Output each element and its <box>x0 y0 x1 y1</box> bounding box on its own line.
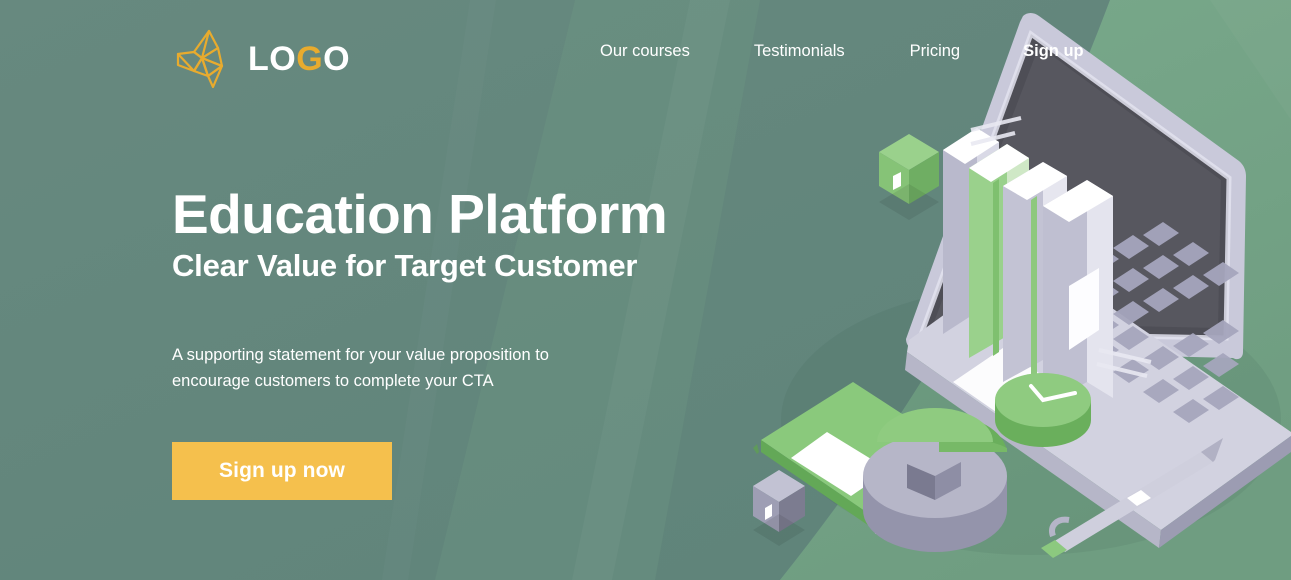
nav-item-pricing[interactable]: Pricing <box>910 38 960 64</box>
hero-subheadline: Clear Value for Target Customer <box>172 249 732 284</box>
brand-text-before: LO <box>248 40 296 78</box>
brand-logo[interactable]: LOGO <box>172 26 350 92</box>
nav-item-our-courses[interactable]: Our courses <box>600 38 690 64</box>
nav-item-sign-up[interactable]: Sign up <box>1023 38 1084 64</box>
site-header: LOGO Our courses Testimonials Pricing Si… <box>0 0 1291 110</box>
hero-copy: Education Platform Clear Value for Targe… <box>172 186 732 284</box>
brand-wordmark: LOGO <box>248 42 350 76</box>
sign-up-now-button[interactable]: Sign up now <box>172 442 392 500</box>
hero-headline: Education Platform <box>172 186 732 243</box>
brand-text-accent: G <box>296 40 323 78</box>
brand-text-after: O <box>323 40 350 78</box>
origami-bird-logo-icon <box>172 26 238 92</box>
hero-support-text: A supporting statement for your value pr… <box>172 342 592 394</box>
nav-item-testimonials[interactable]: Testimonials <box>754 38 845 64</box>
main-navigation: Our courses Testimonials Pricing Sign up <box>600 38 1160 64</box>
hero-section: LOGO Our courses Testimonials Pricing Si… <box>0 0 1291 580</box>
hero-content: LOGO Our courses Testimonials Pricing Si… <box>0 0 1291 580</box>
